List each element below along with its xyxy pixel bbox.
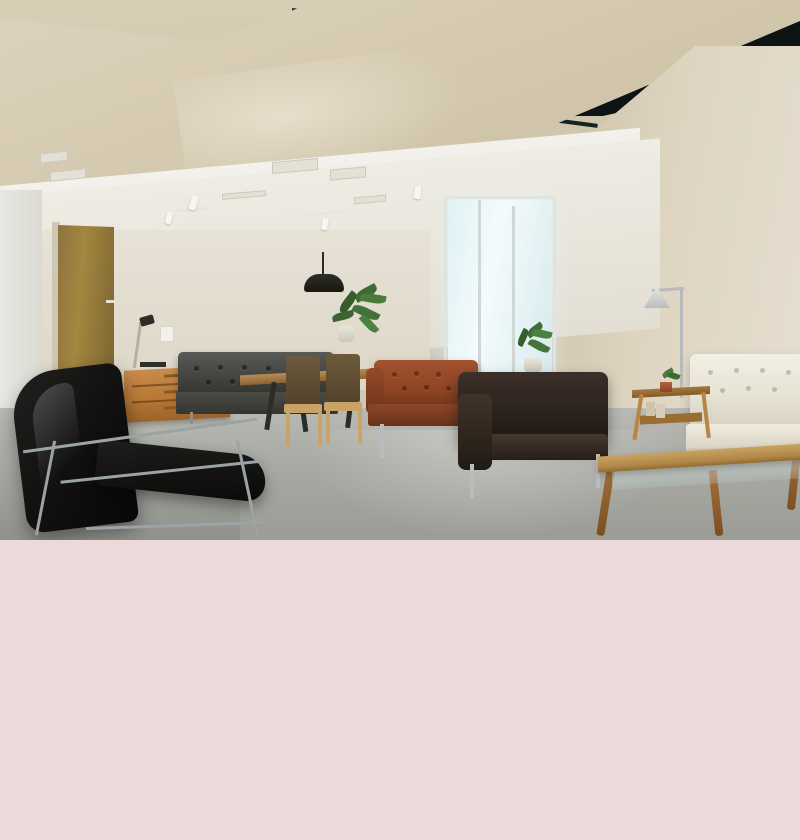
armchair-armrest: [458, 394, 492, 470]
plant-pot: [338, 326, 354, 342]
potted-plant-window: [512, 326, 560, 360]
plant-pot: [660, 382, 672, 392]
magazine: [646, 402, 655, 416]
credenza-object: [140, 362, 166, 367]
page-root: Bed frame delivery checklist: ensuring a…: [0, 0, 800, 840]
wall-switch-plate: [160, 326, 174, 342]
sofa-leg: [190, 412, 193, 424]
hero-image: [0, 0, 800, 540]
door-handle: [106, 300, 115, 303]
pendant-lamp-cord: [322, 252, 324, 276]
article-content-panel: Bed frame delivery checklist: ensuring a…: [0, 540, 800, 840]
plant-pot: [524, 358, 542, 372]
sofa-leg: [380, 424, 384, 458]
armchair-leg: [470, 464, 474, 498]
magazine: [656, 404, 665, 418]
